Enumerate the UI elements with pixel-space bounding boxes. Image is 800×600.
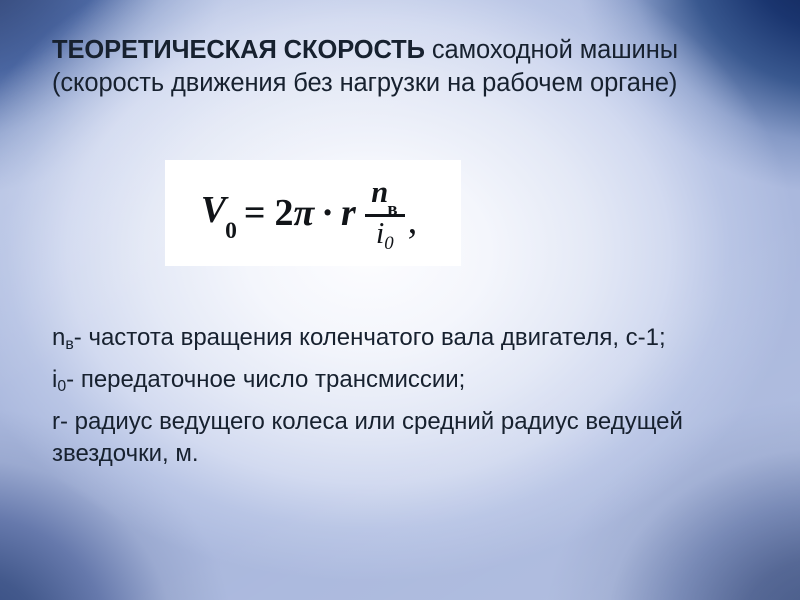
definition-text: - частота вращения коленчатого вала двиг…	[74, 324, 666, 351]
formula-fraction-numerator: nв	[366, 177, 403, 214]
definition-symbol: r	[52, 408, 60, 435]
definition-symbol: nв	[52, 324, 74, 351]
formula-equals-sign: =	[244, 191, 266, 235]
formula-multiplication-dot: ·	[321, 191, 334, 235]
definition-item-i0: i0- передаточное число трансмиссии;	[52, 364, 756, 396]
title-term: ТЕОРЕТИЧЕСКАЯ СКОРОСТЬ	[52, 36, 425, 64]
formula-coefficient: 2	[275, 191, 294, 235]
definition-item-n: nв- частота вращения коленчатого вала дв…	[52, 322, 756, 354]
definition-text: - передаточное число трансмиссии;	[66, 366, 465, 393]
definition-symbol: i0	[52, 366, 66, 393]
formula-expression: V0 = 2 π · r nв i0 ,	[201, 177, 418, 249]
formula-fraction: nв i0	[365, 177, 405, 249]
slide-content: ТЕОРЕТИЧЕСКАЯ СКОРОСТЬ самоходной машины…	[52, 34, 756, 100]
formula-pi-symbol: π	[294, 191, 315, 235]
formula-lhs: V0	[201, 188, 238, 238]
formula-trailing-comma: ,	[408, 199, 418, 249]
definitions-list: nв- частота вращения коленчатого вала дв…	[52, 322, 756, 470]
formula-image: V0 = 2 π · r nв i0 ,	[165, 160, 461, 266]
slide-title: ТЕОРЕТИЧЕСКАЯ СКОРОСТЬ самоходной машины…	[52, 34, 756, 100]
definition-text: - радиус ведущего колеса или средний рад…	[52, 408, 683, 467]
slide-canvas: ТЕОРЕТИЧЕСКАЯ СКОРОСТЬ самоходной машины…	[0, 0, 800, 600]
definition-item-r: r- радиус ведущего колеса или средний ра…	[52, 406, 756, 470]
formula-fraction-denominator: i0	[371, 217, 399, 249]
formula-radius-var: r	[341, 191, 356, 235]
